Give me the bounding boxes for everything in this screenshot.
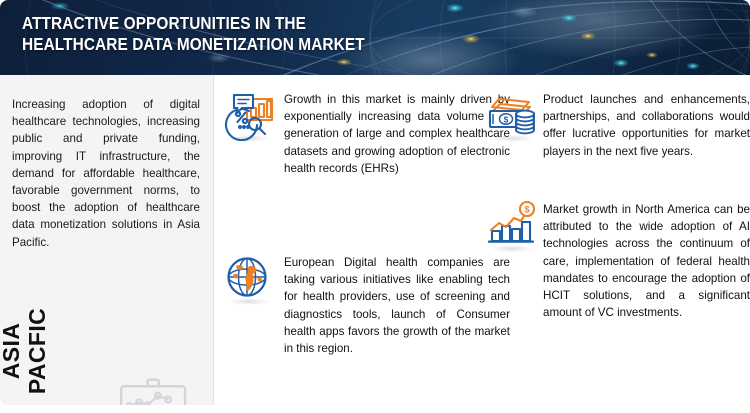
middle-column: Growth in this market is mainly driven b…: [222, 75, 510, 413]
header-banner: ATTRACTIVE OPPORTUNITIES IN THE HEALTHCA…: [0, 0, 750, 75]
column-divider: [213, 75, 214, 413]
asia-pacific-paragraph: Increasing adoption of digital healthcar…: [12, 96, 200, 251]
infographic-root: ATTRACTIVE OPPORTUNITIES IN THE HEALTHCA…: [0, 0, 750, 413]
bottom-edge: [0, 405, 750, 413]
data-analytics-percent-icon: [222, 87, 276, 141]
asia-pacific-panel: Increasing adoption of digital healthcar…: [0, 75, 213, 405]
cash-coins-money-icon: $: [485, 87, 539, 141]
page-title: ATTRACTIVE OPPORTUNITIES IN THE HEALTHCA…: [22, 13, 365, 55]
content-area: Increasing adoption of digital healthcar…: [0, 75, 750, 413]
globe-europe-icon: [222, 250, 276, 304]
insight-text: Product launches and enhancements, partn…: [543, 91, 750, 160]
insight-text: Market growth in North America can be at…: [543, 201, 750, 321]
insight-text: European Digital health companies are ta…: [284, 254, 510, 357]
right-column: $ Product launches and: [485, 75, 750, 413]
insight-text: Growth in this market is mainly driven b…: [284, 91, 510, 177]
svg-text:$: $: [524, 205, 529, 215]
growth-bar-chart-dollar-icon: $: [485, 197, 539, 251]
region-label: ASIA PACFIC: [0, 296, 50, 406]
svg-text:$: $: [504, 114, 509, 124]
